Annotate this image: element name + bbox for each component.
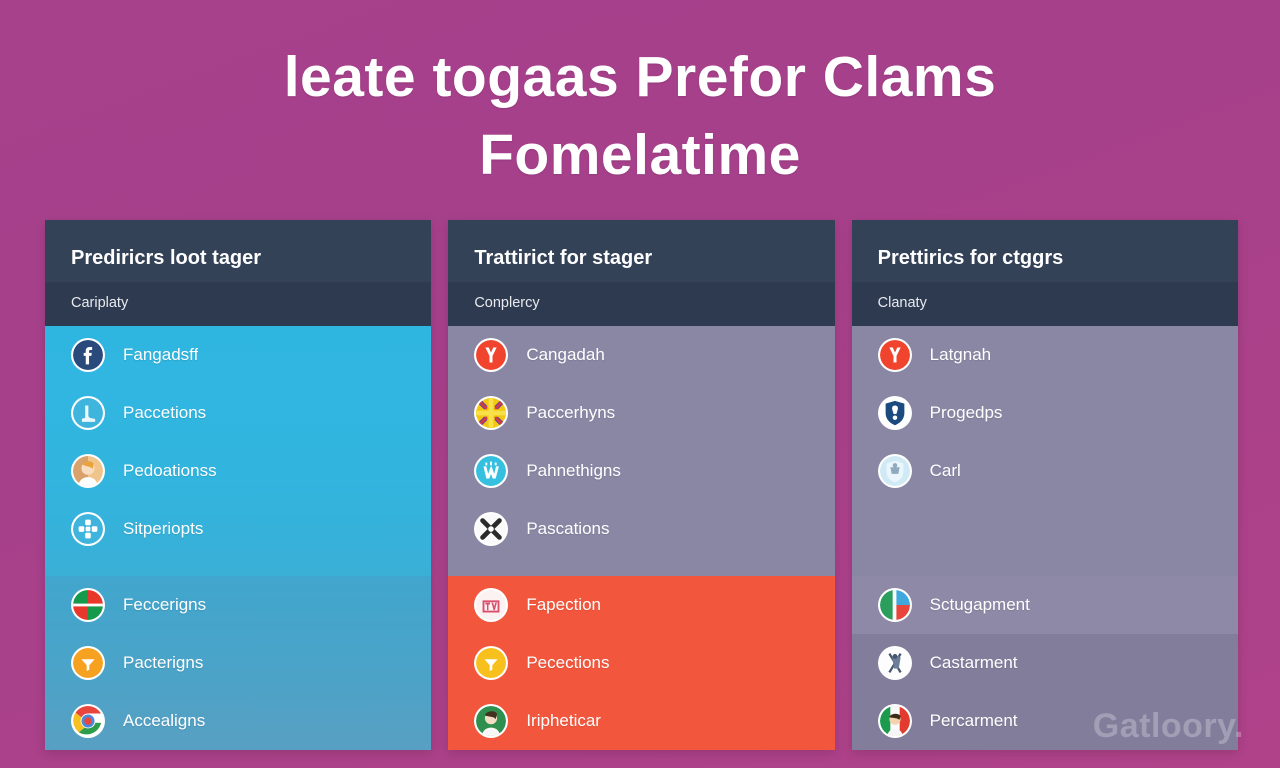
list-item[interactable]: Castarment — [852, 634, 1238, 692]
orange-arrow-icon — [71, 646, 105, 680]
white-emblem-icon — [878, 646, 912, 680]
page-root: leate togaas Prefor Clams Fomelatime Pre… — [0, 0, 1280, 768]
category-card: Prettirics for ctggrsClanatyLatgnahProge… — [852, 220, 1238, 750]
list-item-label: Fapection — [526, 595, 601, 615]
uk-flag-icon — [474, 396, 508, 430]
pale-crest-icon — [878, 454, 912, 488]
list-item-label: Iripheticar — [526, 711, 601, 731]
card-title: Trattirict for stager — [474, 246, 808, 270]
category-card: Prediricrs loot tagerCariplatyFangadsffP… — [45, 220, 431, 750]
facebook-icon — [71, 338, 105, 372]
list-item[interactable]: Pascations — [448, 500, 834, 558]
list-item[interactable]: Percarment — [852, 692, 1238, 750]
list-item[interactable]: Sctugapment — [852, 576, 1238, 634]
chrome-icon — [71, 704, 105, 738]
list-item-label: Sctugapment — [930, 595, 1030, 615]
list-item[interactable]: Accealigns — [45, 692, 431, 750]
list-item-label: Carl — [930, 461, 961, 481]
list-item[interactable]: Latgnah — [852, 326, 1238, 384]
list-section: FangadsffPaccetionsPedoationssSitperiopt… — [45, 326, 431, 576]
list-item[interactable]: Pedoationss — [45, 442, 431, 500]
italy-flag-icon — [71, 588, 105, 622]
list-item-label: Pascations — [526, 519, 609, 539]
list-section: CangadahPaccerhynsPahnethignsPascations — [448, 326, 834, 576]
dpad-icon — [71, 512, 105, 546]
list-item[interactable]: Pecections — [448, 634, 834, 692]
card-body: CangadahPaccerhynsPahnethignsPascationsF… — [448, 326, 834, 750]
list-item[interactable]: Sitperiopts — [45, 500, 431, 558]
category-card: Trattirict for stagerConplercyCangadahPa… — [448, 220, 834, 750]
list-item[interactable]: Feccerigns — [45, 576, 431, 634]
list-item[interactable]: Fangadsff — [45, 326, 431, 384]
card-subtitle: Clanaty — [878, 294, 1212, 312]
card-subheader: Cariplaty — [45, 282, 431, 326]
list-section: CastarmentPercarment — [852, 634, 1238, 750]
blue-green-flag-icon — [878, 588, 912, 622]
list-item[interactable]: Fapection — [448, 576, 834, 634]
list-item[interactable]: Carl — [852, 442, 1238, 500]
list-item-label: Sitperiopts — [123, 519, 203, 539]
list-item-label: Paccetions — [123, 403, 206, 423]
page-title-line-1: leate togaas Prefor Clams — [120, 38, 1160, 116]
list-item-label: Castarment — [930, 653, 1018, 673]
list-item-label: Fangadsff — [123, 345, 198, 365]
crossed-x-icon — [474, 512, 508, 546]
list-item-label: Accealigns — [123, 711, 205, 731]
list-section: FapectionPecectionsIripheticar — [448, 576, 834, 750]
list-item[interactable]: Paccerhyns — [448, 384, 834, 442]
card-header: Prediricrs loot tager — [45, 220, 431, 282]
list-section: Sctugapment — [852, 576, 1238, 634]
list-item[interactable]: Pahnethigns — [448, 442, 834, 500]
card-header: Prettirics for ctggrs — [852, 220, 1238, 282]
card-subtitle: Conplercy — [474, 294, 808, 312]
yellow-arrow-icon — [474, 646, 508, 680]
list-item[interactable]: Cangadah — [448, 326, 834, 384]
card-subheader: Clanaty — [852, 282, 1238, 326]
tv-icon — [474, 588, 508, 622]
blue-crest-icon — [878, 396, 912, 430]
list-section: LatgnahProgedpsCarl — [852, 326, 1238, 576]
person-avatar-icon — [71, 454, 105, 488]
list-item-label: Pedoationss — [123, 461, 217, 481]
list-item[interactable]: Iripheticar — [448, 692, 834, 750]
list-item[interactable]: Paccetions — [45, 384, 431, 442]
red-y-icon — [878, 338, 912, 372]
list-item-label: Paccerhyns — [526, 403, 615, 423]
card-title: Prediricrs loot tager — [71, 246, 405, 270]
list-item[interactable]: Pacterigns — [45, 634, 431, 692]
cyan-w-icon — [474, 454, 508, 488]
list-item-label: Pacterigns — [123, 653, 203, 673]
italy-face-icon — [878, 704, 912, 738]
list-item-label: Progedps — [930, 403, 1003, 423]
card-subheader: Conplercy — [448, 282, 834, 326]
list-item-label: Feccerigns — [123, 595, 206, 615]
list-item[interactable]: Progedps — [852, 384, 1238, 442]
card-subtitle: Cariplaty — [71, 294, 405, 312]
list-item-label: Latgnah — [930, 345, 991, 365]
card-title: Prettirics for ctggrs — [878, 246, 1212, 270]
red-y-icon — [474, 338, 508, 372]
list-item-label: Cangadah — [526, 345, 604, 365]
card-body: FangadsffPaccetionsPedoationssSitperiopt… — [45, 326, 431, 750]
boot-icon — [71, 396, 105, 430]
list-item-label: Pahnethigns — [526, 461, 621, 481]
page-title: leate togaas Prefor Clams Fomelatime — [0, 38, 1280, 194]
card-header: Trattirict for stager — [448, 220, 834, 282]
list-item-label: Percarment — [930, 711, 1018, 731]
list-item-label: Pecections — [526, 653, 609, 673]
card-body: LatgnahProgedpsCarlSctugapmentCastarment… — [852, 326, 1238, 750]
columns-container: Prediricrs loot tagerCariplatyFangadsffP… — [45, 220, 1238, 750]
list-section: FeccerignsPacterignsAccealigns — [45, 576, 431, 750]
page-title-line-2: Fomelatime — [120, 116, 1160, 194]
green-person-icon — [474, 704, 508, 738]
